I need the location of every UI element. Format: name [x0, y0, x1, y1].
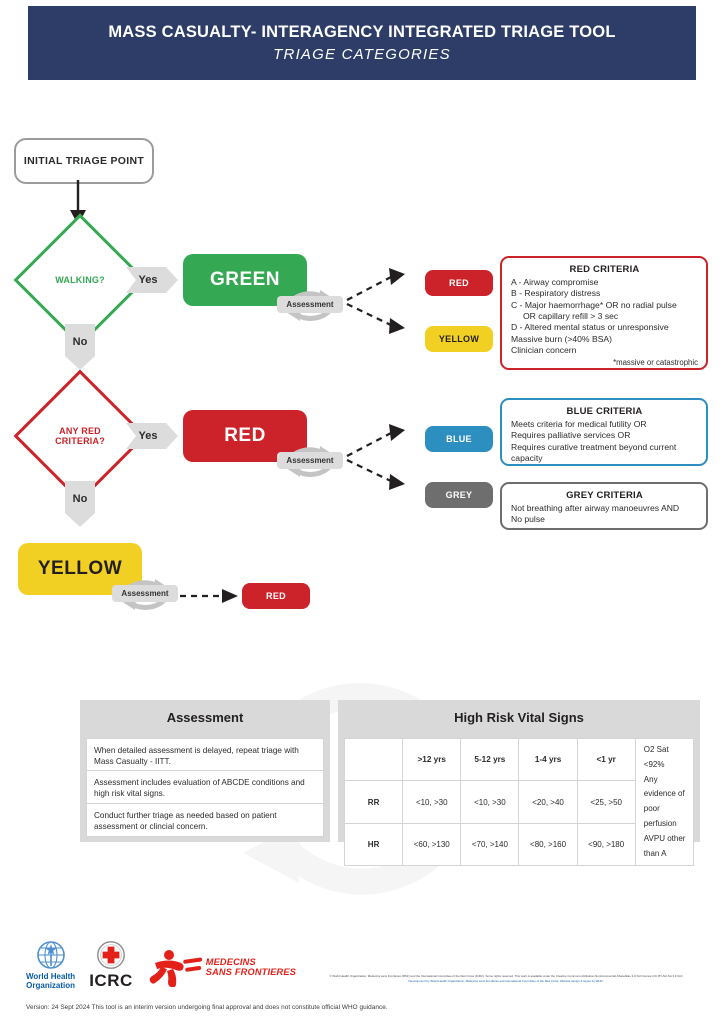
msf-logo-text: MEDECINS SANS FRONTIERES [206, 957, 296, 977]
no-chevron-walking: No [65, 324, 95, 370]
grey-criteria-box: GREY CRITERIA Not breathing after airway… [500, 482, 708, 530]
vitals-side-note: Any evidence of poor perfusion [644, 773, 688, 832]
vitals-age-header: 5-12 yrs [461, 739, 519, 781]
who-emblem-icon [33, 940, 69, 972]
blue-criteria-title: BLUE CRITERIA [511, 406, 698, 417]
vitals-side-note: AVPU other than A [644, 832, 688, 862]
outcome-yellow-1-box: YELLOW [425, 326, 493, 352]
initial-triage-point-node: INITIAL TRIAGE POINT [14, 138, 154, 184]
vitals-corner-cell [345, 739, 403, 781]
outcome-blue-1-label: BLUE [446, 434, 472, 444]
assessment-label-red: Assessment [277, 452, 343, 469]
vitals-row-label: HR [345, 823, 403, 865]
blue-criteria-line: Meets criteria for medical futility OR [511, 419, 698, 430]
vitals-table: High Risk Vital Signs >12 yrs 5-12 yrs 1… [338, 700, 700, 842]
who-logo-line1: World Health [26, 972, 75, 981]
outcome-red-2-box: RED [242, 583, 310, 609]
poster-header: MASS CASUALTY- INTERAGENCY INTEGRATED TR… [28, 6, 696, 80]
blue-criteria-line: Requires curative treatment beyond curre… [511, 442, 698, 453]
assessment-table: Assessment When detailed assessment is d… [80, 700, 330, 842]
yes-chevron-any-red: Yes [126, 423, 178, 449]
red-criteria-line: B - Respiratory distress [511, 288, 698, 299]
red-criteria-line: A - Airway compromise [511, 277, 698, 288]
who-logo: World Health Organization [26, 940, 75, 991]
vitals-age-header: 1-4 yrs [519, 739, 577, 781]
copyright-line: Development by World Health Organization… [296, 979, 716, 984]
vitals-row-label: RR [345, 781, 403, 823]
no-chevron-any-red: No [65, 481, 95, 527]
footer-copyright: © World Health Organization, Médecins sa… [296, 974, 716, 983]
red-criteria-line: C - Major haemorrhage* OR no radial puls… [511, 300, 698, 311]
no-label-any-red: No [65, 481, 95, 527]
assessment-table-row: Conduct further triage as needed based o… [86, 804, 324, 837]
vitals-cell: <80, >160 [519, 823, 577, 865]
red-criteria-line: OR capillary refill > 3 sec [511, 311, 698, 322]
yes-label-any-red: Yes [126, 423, 178, 449]
category-red-label: RED [224, 425, 266, 447]
decision-walking-label: WALKING? [18, 230, 142, 330]
vitals-cell: <20, >40 [519, 781, 577, 823]
no-label-walking: No [65, 324, 95, 370]
vitals-age-header: <1 yr [577, 739, 635, 781]
assessment-badge-green: Assessment [268, 282, 352, 328]
red-criteria-title: RED CRITERIA [511, 264, 698, 275]
red-criteria-box: RED CRITERIA A - Airway compromise B - R… [500, 256, 708, 370]
vitals-side-note: O2 Sat <92% [644, 743, 688, 773]
msf-running-figure-icon [147, 947, 203, 987]
icrc-logo: ICRC [89, 940, 133, 991]
page-subtitle: TRIAGE CATEGORIES [273, 46, 451, 63]
red-criteria-line: D - Altered mental status or unresponsiv… [511, 322, 698, 333]
blue-criteria-line: capacity [511, 453, 698, 464]
red-criteria-line: Massive burn (>40% BSA) [511, 334, 698, 345]
assessment-badge-yellow: Assessment [103, 571, 187, 617]
assessment-table-title: Assessment [80, 700, 330, 734]
msf-logo: MEDECINS SANS FRONTIERES [147, 947, 296, 987]
vitals-table-title: High Risk Vital Signs [338, 700, 700, 734]
decision-any-red: ANY RED CRITERIA? [18, 386, 142, 486]
yes-label-walking: Yes [126, 267, 178, 293]
outcome-blue-1-box: BLUE [425, 426, 493, 452]
outcome-yellow-1-label: YELLOW [439, 334, 479, 344]
msf-logo-line1: MEDECINS [206, 957, 256, 967]
icrc-logo-text: ICRC [89, 971, 133, 991]
table-row: >12 yrs 5-12 yrs 1-4 yrs <1 yr O2 Sat <9… [345, 739, 694, 781]
dashed-arrows-red-outcomes [345, 422, 425, 490]
vitals-cell: <90, >180 [577, 823, 635, 865]
copyright-line: © World Health Organization, Médecins sa… [296, 974, 716, 979]
grey-criteria-line: No pulse [511, 514, 698, 525]
grey-criteria-line: Not breathing after airway manoeuvres AN… [511, 503, 698, 514]
dashed-arrow-yellow-to-red [180, 586, 242, 606]
grey-criteria-title: GREY CRITERIA [511, 490, 698, 501]
poster-footer: World Health Organization ICRC [0, 930, 724, 1024]
who-logo-line2: Organization [26, 981, 75, 990]
red-criteria-note: *massive or catastrophic [511, 358, 698, 367]
vitals-cell: <60, >130 [403, 823, 461, 865]
vitals-cell: <25, >50 [577, 781, 635, 823]
who-logo-text: World Health Organization [26, 973, 75, 991]
blue-criteria-line: Requires palliative services OR [511, 430, 698, 441]
decision-walking: WALKING? [18, 230, 142, 330]
red-criteria-line: Clinician concern [511, 345, 698, 356]
vitals-cell: <10, >30 [461, 781, 519, 823]
assessment-table-row: Assessment includes evaluation of ABCDE … [86, 771, 324, 804]
decision-any-red-label: ANY RED CRITERIA? [18, 386, 142, 486]
outcome-red-1-box: RED [425, 270, 493, 296]
page-title: MASS CASUALTY- INTERAGENCY INTEGRATED TR… [108, 23, 615, 41]
poster-page: MASS CASUALTY- INTERAGENCY INTEGRATED TR… [0, 0, 724, 1024]
footer-logos: World Health Organization ICRC [26, 940, 296, 991]
assessment-badge-red: Assessment [268, 438, 352, 484]
vitals-table-grid: >12 yrs 5-12 yrs 1-4 yrs <1 yr O2 Sat <9… [344, 738, 694, 866]
dashed-arrows-green-outcomes [345, 266, 425, 334]
outcome-red-1-label: RED [449, 278, 469, 288]
assessment-label-green: Assessment [277, 296, 343, 313]
outcome-red-2-label: RED [266, 591, 286, 601]
vitals-side-notes: O2 Sat <92% Any evidence of poor perfusi… [635, 739, 693, 866]
vitals-age-header: >12 yrs [403, 739, 461, 781]
yes-chevron-walking: Yes [126, 267, 178, 293]
outcome-grey-1-label: GREY [446, 490, 473, 500]
blue-criteria-box: BLUE CRITERIA Meets criteria for medical… [500, 398, 708, 466]
msf-logo-line2: SANS FRONTIERES [206, 967, 296, 977]
vitals-cell: <70, >140 [461, 823, 519, 865]
initial-triage-point-label: INITIAL TRIAGE POINT [24, 155, 144, 167]
outcome-grey-1-box: GREY [425, 482, 493, 508]
version-note: Version: 24 Sept 2024 This tool is an in… [26, 1004, 388, 1011]
vitals-cell: <10, >30 [403, 781, 461, 823]
red-cross-icon [96, 940, 126, 970]
assessment-label-yellow: Assessment [112, 585, 178, 602]
assessment-table-row: When detailed assessment is delayed, rep… [86, 738, 324, 771]
